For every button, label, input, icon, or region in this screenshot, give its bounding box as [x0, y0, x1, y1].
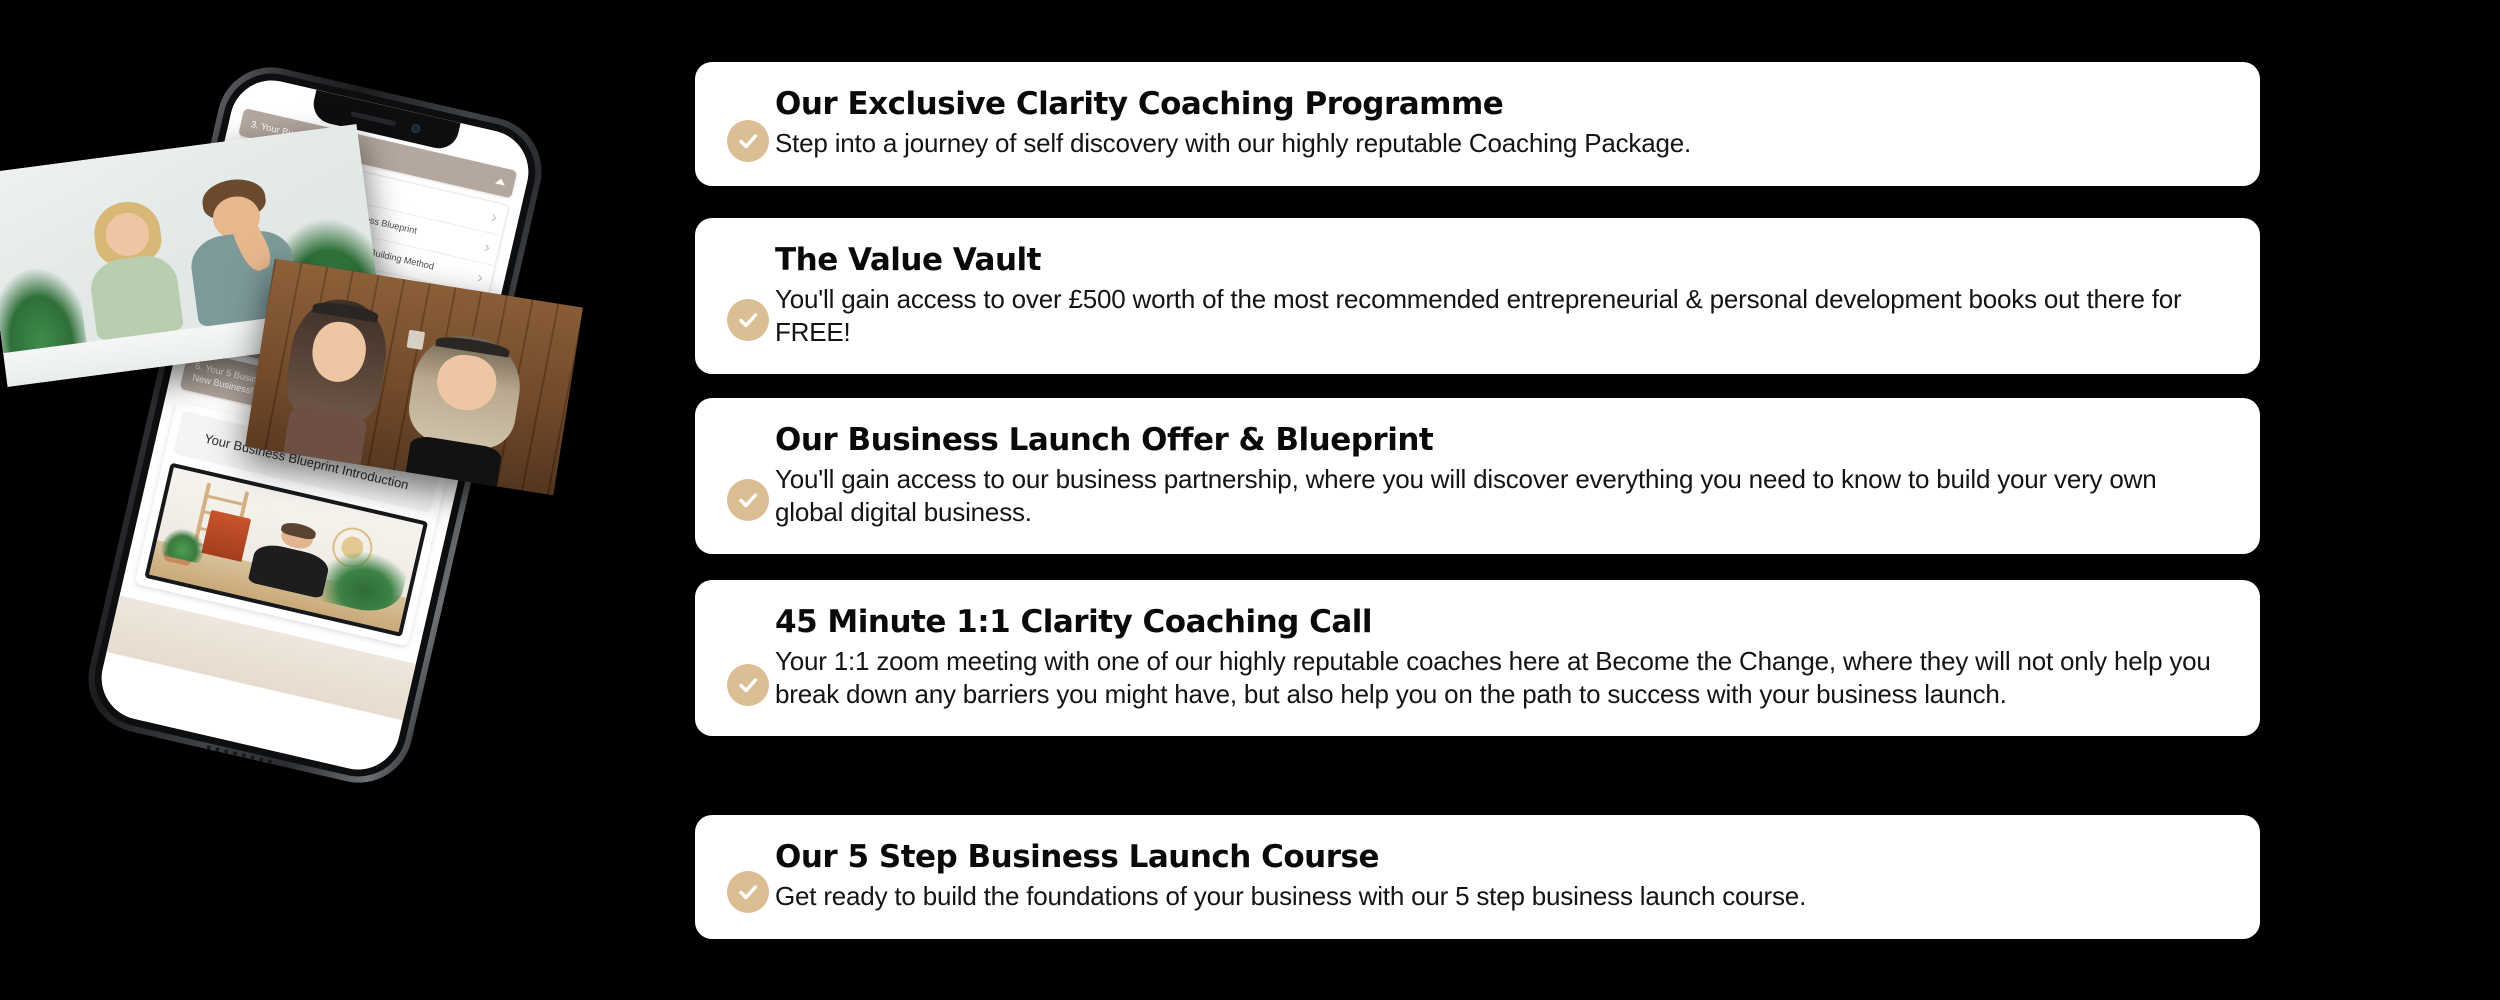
front-camera-icon: [410, 123, 421, 134]
feature-description: You'll gain access to over £500 worth of…: [775, 283, 2214, 348]
check-circle-icon: [727, 299, 769, 341]
earpiece-speaker-icon: [350, 111, 396, 126]
curtain-decor: [201, 510, 251, 562]
feature-description: You'll gain access to our business partn…: [775, 463, 2214, 528]
page-root: 3. Your Business Blueprint Introducing o…: [0, 0, 2500, 1000]
presenter-figure: [247, 517, 337, 599]
feature-card[interactable]: Our Exclusive Clarity Coaching Programme…: [695, 62, 2260, 186]
feature-description: Get ready to build the foundations of yo…: [775, 880, 2214, 913]
feature-card[interactable]: Our 5 Step Business Launch Course Get re…: [695, 815, 2260, 939]
feature-title: 45 Minute 1:1 Clarity Coaching Call: [775, 605, 2214, 639]
feature-card[interactable]: The Value Vault You'll gain access to ov…: [695, 218, 2260, 374]
feature-card[interactable]: 45 Minute 1:1 Clarity Coaching Call Your…: [695, 580, 2260, 736]
feature-title: Our 5 Step Business Launch Course: [775, 840, 2214, 874]
presenter-figure-left: [269, 293, 400, 475]
check-circle-icon: [727, 871, 769, 913]
chevron-right-icon: [482, 244, 489, 251]
feature-description: Your 1:1 zoom meeting with one of our hi…: [775, 645, 2214, 710]
chevron-right-icon: [475, 274, 482, 281]
device-mockup-composition: 3. Your Business Blueprint Introducing o…: [0, 0, 740, 1000]
feature-title: The Value Vault: [775, 243, 2214, 277]
feature-description: Step into a journey of self discovery wi…: [775, 127, 2214, 160]
chevron-up-icon: [495, 177, 506, 185]
presenter-figure-right: [392, 327, 533, 495]
chevron-right-icon: [489, 214, 496, 221]
check-circle-icon: [727, 120, 769, 162]
feature-card[interactable]: Our Business Launch Offer & Blueprint Yo…: [695, 398, 2260, 554]
feature-title: Our Business Launch Offer & Blueprint: [775, 423, 2214, 457]
feature-card-stack: Our Exclusive Clarity Coaching Programme…: [695, 0, 2260, 1000]
presenter-figure-woman: [80, 197, 184, 341]
check-circle-icon: [727, 479, 769, 521]
check-circle-icon: [727, 664, 769, 706]
feature-title: Our Exclusive Clarity Coaching Programme: [775, 87, 2214, 121]
